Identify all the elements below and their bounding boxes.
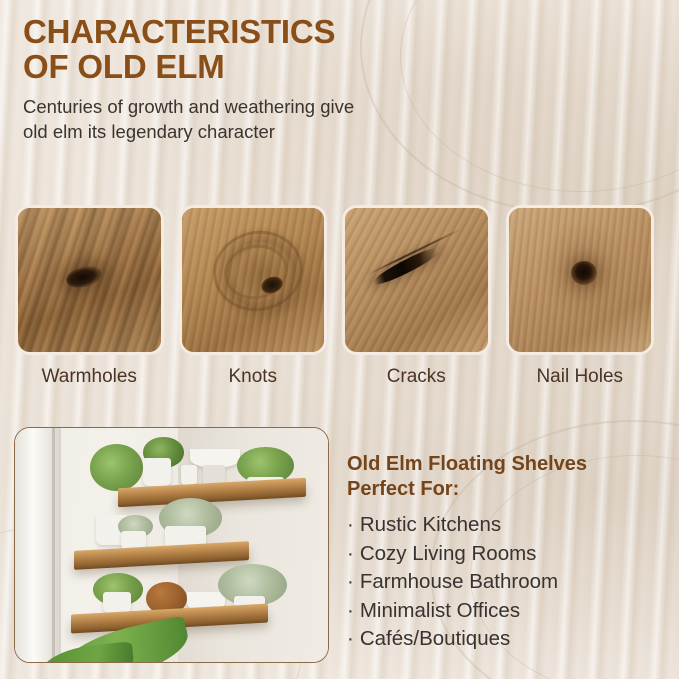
uses-section: Old Elm Floating Shelves Perfect For: ·R…: [347, 452, 667, 654]
characteristic-label: Cracks: [387, 366, 446, 388]
page-subtitle-line-1: Centuries of growth and weathering give: [23, 96, 354, 117]
list-item: ·Cafés/Boutiques: [347, 625, 667, 654]
characteristic-label: Knots: [228, 366, 277, 388]
list-item: ·Cozy Living Rooms: [347, 540, 667, 569]
characteristic-item-warmholes: Warmholes: [15, 205, 164, 388]
characteristic-label: Warmholes: [42, 366, 137, 388]
uses-heading-line-2: Perfect For:: [347, 478, 459, 500]
page-subtitle: Centuries of growth and weathering give …: [23, 94, 583, 144]
bullet-icon: ·: [347, 599, 354, 622]
header: CHARACTERISTICS OF OLD ELM Centuries of …: [23, 14, 583, 144]
wood-texture: [345, 208, 488, 352]
bullet-icon: ·: [347, 570, 354, 593]
list-item-label: Rustic Kitchens: [360, 513, 501, 536]
bullet-icon: ·: [347, 627, 354, 650]
characteristic-item-knots: Knots: [179, 205, 328, 388]
bullet-icon: ·: [347, 513, 354, 536]
uses-list: ·Rustic Kitchens ·Cozy Living Rooms ·Far…: [347, 511, 667, 654]
characteristic-label: Nail Holes: [536, 366, 623, 388]
page-title: CHARACTERISTICS OF OLD ELM: [23, 14, 583, 84]
planter-pot: [143, 458, 171, 486]
list-item-label: Cozy Living Rooms: [360, 542, 537, 565]
list-item: ·Rustic Kitchens: [347, 511, 667, 540]
page-title-line-2: OF OLD ELM: [23, 48, 224, 85]
characteristics-row: Warmholes Knots Cracks Nai: [15, 205, 664, 388]
door-frame: [15, 428, 61, 662]
characteristic-item-cracks: Cracks: [342, 205, 491, 388]
lifestyle-photo: [14, 427, 329, 663]
infographic-page: CHARACTERISTICS OF OLD ELM Centuries of …: [0, 0, 679, 679]
characteristic-item-nail-holes: Nail Holes: [506, 205, 655, 388]
uses-heading-line-1: Old Elm Floating Shelves: [347, 453, 587, 475]
crack-photo-tile: [342, 205, 491, 355]
warmhole-photo-tile: [15, 205, 164, 355]
bullet-icon: ·: [347, 542, 354, 565]
nailhole-photo-tile: [506, 205, 655, 355]
uses-heading: Old Elm Floating Shelves Perfect For:: [347, 452, 667, 502]
knot-photo-tile: [179, 205, 328, 355]
list-item: ·Farmhouse Bathroom: [347, 568, 667, 597]
list-item-label: Farmhouse Bathroom: [360, 570, 558, 593]
list-item-label: Minimalist Offices: [360, 599, 520, 622]
page-subtitle-line-2: old elm its legendary character: [23, 121, 275, 142]
list-item: ·Minimalist Offices: [347, 597, 667, 626]
list-item-label: Cafés/Boutiques: [360, 627, 510, 650]
page-title-line-1: CHARACTERISTICS: [23, 13, 335, 50]
planter-pot: [103, 592, 131, 613]
